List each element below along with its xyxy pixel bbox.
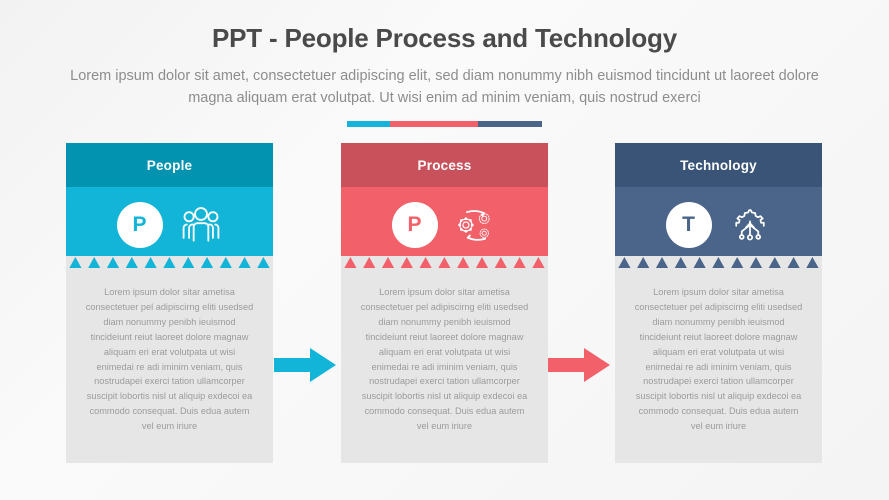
- letter-badge-people: P: [117, 202, 163, 248]
- page-subtitle: Lorem ipsum dolor sit amet, consectetuer…: [60, 65, 830, 110]
- torn-edge-process: [341, 256, 548, 274]
- card-header-process: Process: [341, 143, 548, 187]
- card-people[interactable]: People P: [66, 143, 273, 463]
- card-text-people: Lorem ipsum dolor sitar ametisa consecte…: [66, 285, 273, 434]
- torn-edge-people: [66, 256, 273, 274]
- card-text-technology: Lorem ipsum dolor sitar ametisa consecte…: [615, 285, 822, 434]
- people-group-icon: [179, 203, 223, 247]
- card-title-technology: Technology: [680, 158, 757, 173]
- accent-bar: [347, 121, 543, 127]
- accent-segment-cyan: [347, 121, 390, 127]
- letter-badge-text: P: [132, 213, 146, 237]
- card-header-technology: Technology: [615, 143, 822, 187]
- gears-process-icon: [454, 203, 498, 247]
- page-header: PPT - People Process and Technology Lore…: [0, 0, 889, 127]
- card-process[interactable]: Process P: [341, 143, 548, 463]
- arrow-process-to-technology: [548, 345, 610, 385]
- torn-edge-technology: [615, 256, 822, 274]
- letter-badge-technology: T: [666, 202, 712, 248]
- arrow-right-icon: [548, 345, 610, 385]
- card-title-process: Process: [418, 158, 472, 173]
- accent-segment-navy: [478, 121, 543, 127]
- letter-badge-text: T: [682, 213, 695, 237]
- arrow-people-to-process: [274, 345, 336, 385]
- card-title-people: People: [147, 158, 192, 173]
- accent-segment-red: [390, 121, 478, 127]
- card-text-process: Lorem ipsum dolor sitar ametisa consecte…: [341, 285, 548, 434]
- letter-badge-process: P: [392, 202, 438, 248]
- card-technology[interactable]: Technology T: [615, 143, 822, 463]
- card-top-process: Process P: [341, 143, 548, 268]
- cards-row: People P: [0, 143, 889, 473]
- card-header-people: People: [66, 143, 273, 187]
- card-top-technology: Technology T: [615, 143, 822, 268]
- circuit-gear-icon: [728, 203, 772, 247]
- arrow-shape: [548, 348, 610, 382]
- arrow-shape: [274, 348, 336, 382]
- letter-badge-text: P: [407, 213, 421, 237]
- page-title: PPT - People Process and Technology: [0, 22, 889, 55]
- card-top-people: People P: [66, 143, 273, 268]
- arrow-right-icon: [274, 345, 336, 385]
